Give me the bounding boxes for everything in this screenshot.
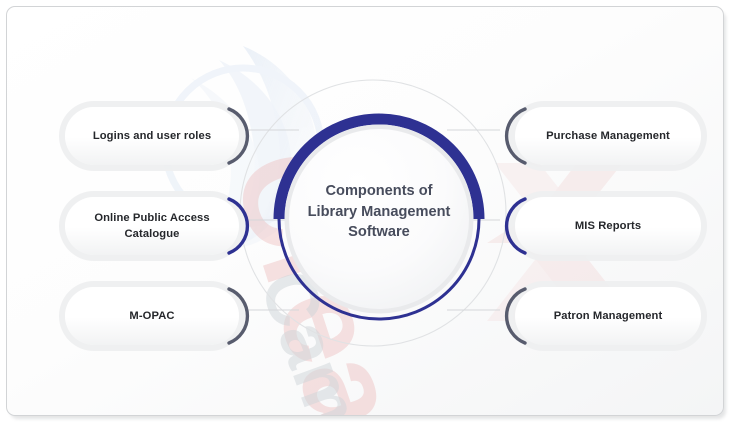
diagram-canvas: Creatrix Campus <box>0 0 740 431</box>
node-label: Purchase Management <box>532 128 684 144</box>
hub-title-line-3: Software <box>283 222 475 243</box>
hub-title-line-2: Library Management <box>283 202 475 223</box>
node-accent-arc <box>227 103 261 169</box>
node-label: Online Public Access Catalogue <box>80 210 223 242</box>
node-logins-and-user-roles[interactable]: Logins and user roles <box>65 107 239 165</box>
node-accent-arc <box>493 103 527 169</box>
hub-title-line-1: Components of <box>283 181 475 202</box>
node-accent-arc <box>493 283 527 349</box>
node-patron-management[interactable]: Patron Management <box>515 287 701 345</box>
node-online-public-access-catalogue[interactable]: Online Public Access Catalogue <box>65 197 239 255</box>
node-label: M-OPAC <box>115 308 188 324</box>
node-accent-arc <box>493 193 527 259</box>
node-label: Patron Management <box>540 308 677 324</box>
central-hub: Components of Library Management Softwar… <box>269 109 489 329</box>
node-label: MIS Reports <box>561 218 655 234</box>
node-mis-reports[interactable]: MIS Reports <box>515 197 701 255</box>
node-purchase-management[interactable]: Purchase Management <box>515 107 701 165</box>
diagram-frame: Creatrix Campus <box>6 6 724 416</box>
node-label-line-1: Online Public Access <box>94 210 209 226</box>
node-accent-arc <box>227 283 261 349</box>
hub-title: Components of Library Management Softwar… <box>283 181 475 243</box>
node-accent-arc <box>227 193 261 259</box>
node-m-opac[interactable]: M-OPAC <box>65 287 239 345</box>
node-label-line-2: Catalogue <box>94 226 209 242</box>
node-label: Logins and user roles <box>79 128 225 144</box>
